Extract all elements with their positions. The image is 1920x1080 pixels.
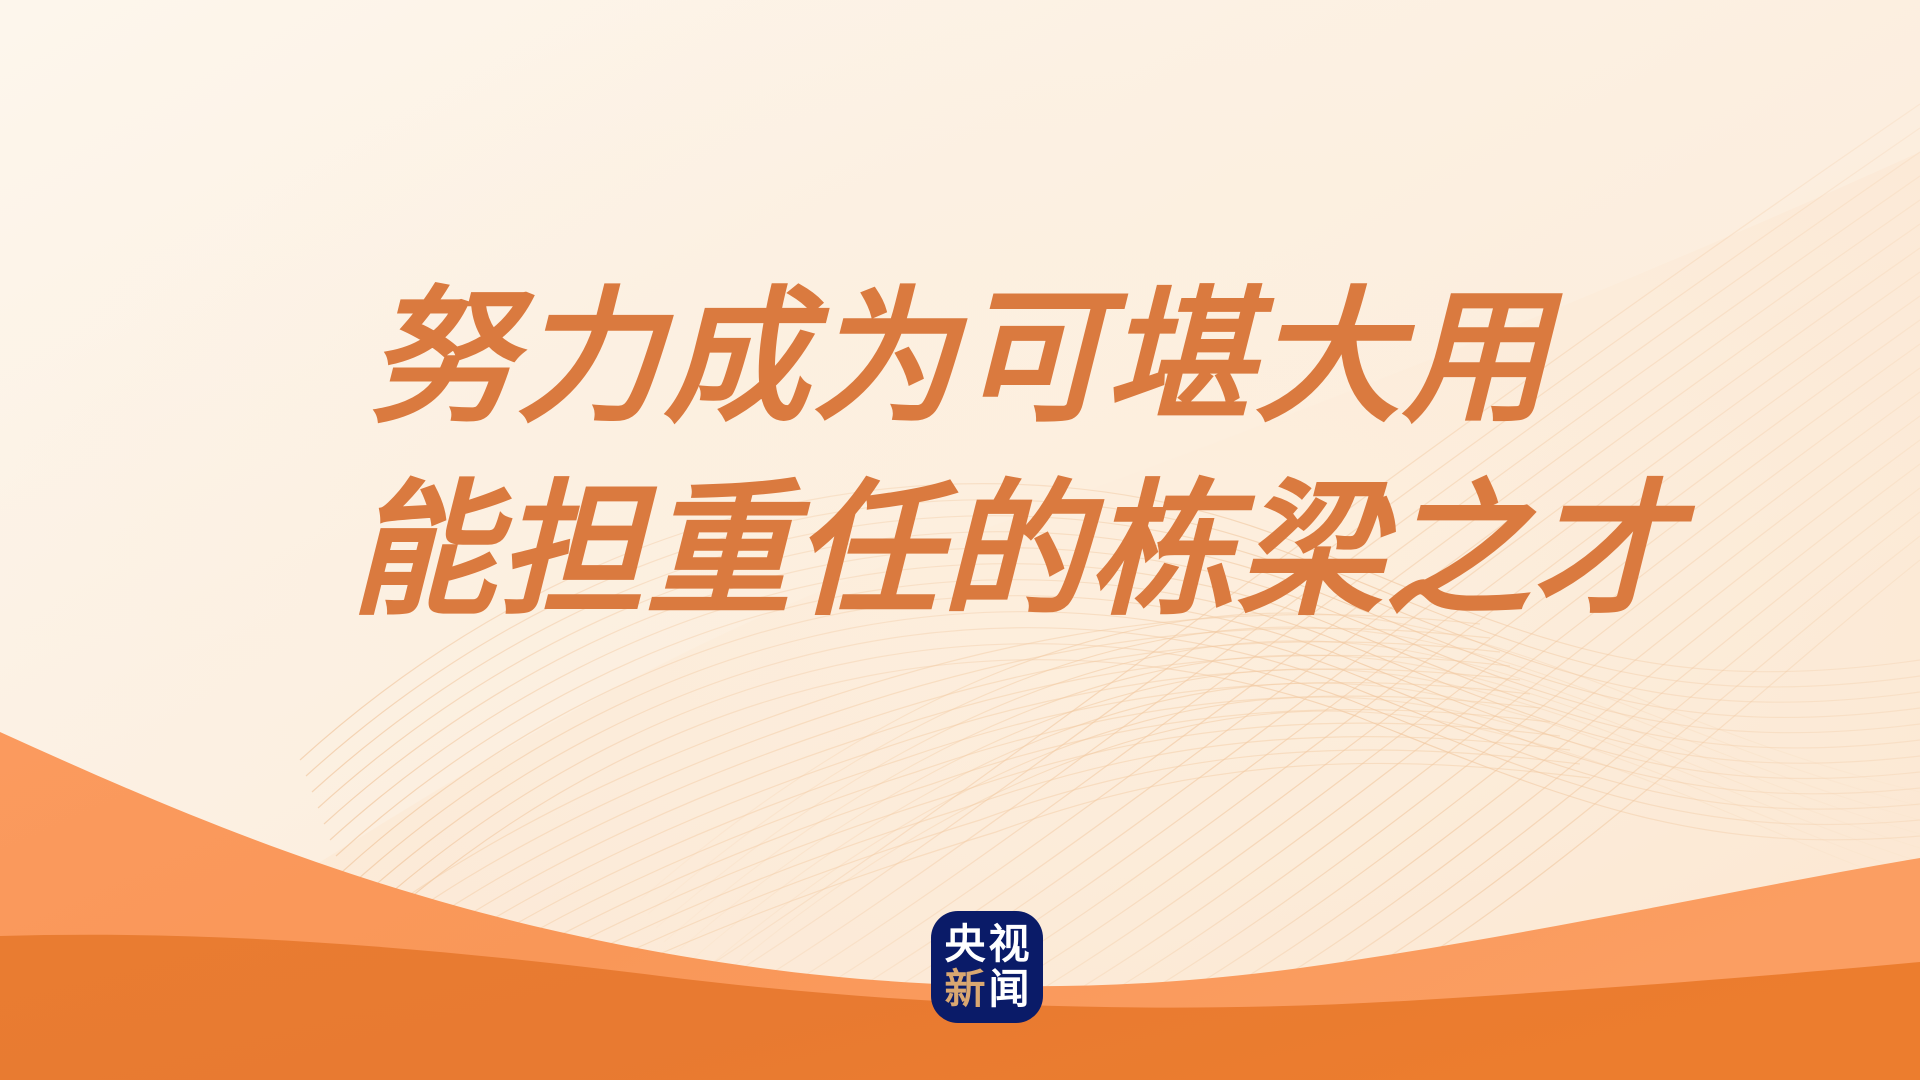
cctv-news-logo[interactable]: 央 视 新 闻 [931, 911, 1043, 1023]
logo-row-bottom: 新 闻 [943, 967, 1031, 1012]
line-bundle-lower-left [196, 614, 1590, 1080]
logo-char-xin: 新 [943, 969, 987, 1010]
headline-block: 努力成为可堪大用 能担重任的栋梁之才 [0, 262, 1920, 647]
headline-line-2: 能担重任的栋梁之才 [0, 455, 1920, 648]
line-bundle-crest [640, 613, 1920, 998]
logo-row-top: 央 视 [943, 922, 1031, 967]
logo-char-wen: 闻 [987, 969, 1031, 1010]
logo-char-shi: 视 [987, 924, 1031, 965]
headline-line-1: 努力成为可堪大用 [0, 262, 1920, 455]
poster-canvas: 努力成为可堪大用 能担重任的栋梁之才 央 视 新 闻 [0, 0, 1920, 1080]
wave-light [0, 732, 1920, 1080]
poster-stage: 努力成为可堪大用 能担重任的栋梁之才 央 视 新 闻 [0, 0, 1920, 1080]
logo-char-yang: 央 [943, 924, 987, 965]
